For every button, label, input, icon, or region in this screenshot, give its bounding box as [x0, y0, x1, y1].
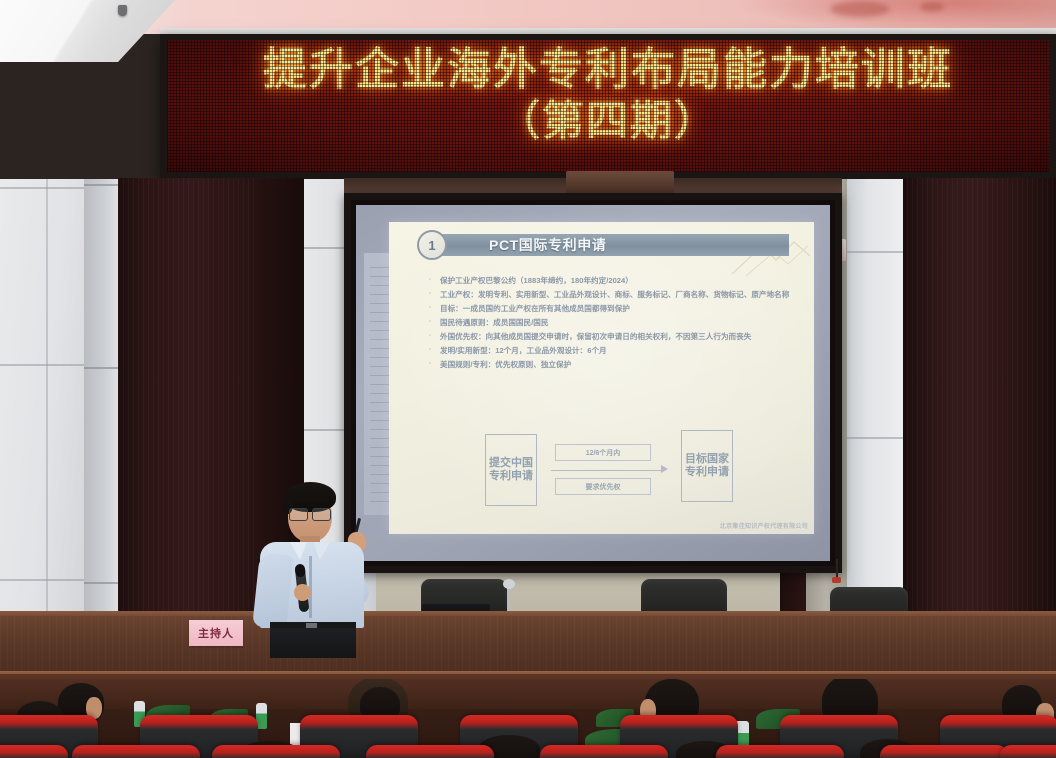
slide-footer-watermark: 北京集佳知识产权代理有限公司	[720, 521, 808, 530]
slide-number-badge: 1	[417, 230, 447, 260]
audience-seat	[212, 745, 340, 758]
audience-area: 黄俊文	[0, 679, 1056, 758]
presentation-slide: PCT国际专利申请 1 ▫ 保护工业产权巴黎公约（1883年缔约，180年约定/…	[389, 222, 814, 534]
projection-screen: PCT国际专利申请 1 ▫ 保护工业产权巴黎公约（1883年缔约，180年约定/…	[344, 193, 842, 573]
audience-seat	[716, 745, 844, 758]
slide-bullet: ▫ 国民待遇原则：成员国国民/国民	[429, 316, 799, 329]
slide-flow-diagram: 提交中国专利申请 12/6个月内 要求优先权 目标国家专利申请	[485, 434, 733, 512]
host-name-card: 主持人	[189, 620, 243, 646]
desk-microphone-icon	[503, 579, 515, 589]
ceiling-stain	[830, 1, 890, 17]
audience-seat	[540, 745, 668, 758]
right-wood-column	[902, 178, 1056, 648]
bullet-text: 发明/实用新型：12个月，工业品外观设计：6个月	[440, 344, 799, 357]
slide-bullet: ▫ 外国优先权：向其他成员国提交申请时，保留初次申请日的相关权利，不因第三人行为…	[429, 330, 799, 343]
bullet-text: 美国规则/专利：优先权原则、独立保护	[440, 358, 799, 371]
slide-bullet: ▫ 工业产权：发明专利、实用新型、工业品外观设计、商标、服务标记、厂商名称、货物…	[429, 288, 799, 301]
left-wall-panel	[0, 179, 84, 679]
flow-arrow-icon	[661, 465, 668, 473]
slide-bullet: ▫ 美国规则/专利：优先权原则、独立保护	[429, 358, 799, 371]
led-banner: 提升企业海外专利布局能力培训班 （第四期）	[160, 34, 1056, 179]
led-banner-line2: （第四期）	[167, 98, 1049, 143]
slide-bullet: ▫ 目标：一成员国的工业产权在所有其他成员国都得到保护	[429, 302, 799, 315]
slide-title-row: PCT国际专利申请 1	[445, 234, 797, 256]
audience-back-wall	[0, 679, 1056, 709]
led-banner-line1: 提升企业海外专利布局能力培训班	[167, 46, 1049, 94]
bullet-text: 国民待遇原则：成员国国民/国民	[440, 316, 799, 329]
audience-seat	[366, 745, 494, 758]
screen-cord-tip-right	[832, 577, 841, 583]
slide-bullet: ▫ 保护工业产权巴黎公约（1883年缔约，180年约定/2024）	[429, 274, 799, 287]
bullet-text: 工业产权：发明专利、实用新型、工业品外观设计、商标、服务标记、厂商名称、货物标记…	[440, 288, 799, 301]
audience-seat	[0, 745, 68, 758]
speaker-trousers	[270, 628, 356, 658]
flow-mid-box-top: 12/6个月内	[555, 444, 651, 461]
glasses-icon	[288, 508, 332, 519]
projection-surface: PCT国际专利申请 1 ▫ 保护工业产权巴黎公约（1883年缔约，180年约定/…	[356, 205, 830, 561]
audience-seat	[72, 745, 200, 758]
left-wall-panel-secondary	[84, 179, 118, 679]
right-light-panel	[845, 179, 903, 649]
speaker-left-hand	[294, 584, 311, 601]
bullet-marker-icon: ▫	[429, 358, 440, 371]
ceiling-stain-small	[920, 2, 944, 12]
flow-mid-box-bottom: 要求优先权	[555, 478, 651, 495]
audience-seat	[880, 745, 1008, 758]
bullet-marker-icon: ▫	[429, 344, 440, 357]
screen-roller-box	[566, 171, 674, 193]
led-banner-text: 提升企业海外专利布局能力培训班 （第四期）	[167, 46, 1049, 143]
bullet-marker-icon: ▫	[429, 274, 440, 287]
bullet-text: 保护工业产权巴黎公约（1883年缔约，180年约定/2024）	[440, 274, 799, 287]
flow-end-box: 目标国家专利申请	[681, 430, 733, 502]
speaker-presenter	[244, 476, 384, 658]
security-camera-icon	[118, 5, 127, 16]
bullet-marker-icon: ▫	[429, 302, 440, 315]
audience-seat	[1000, 745, 1056, 758]
bullet-text: 目标：一成员国的工业产权在所有其他成员国都得到保护	[440, 302, 799, 315]
led-screen-surface: 提升企业海外专利布局能力培训班 （第四期）	[167, 40, 1049, 172]
slide-title: PCT国际专利申请	[489, 235, 606, 255]
flow-start-box: 提交中国专利申请	[485, 434, 537, 506]
conference-photo-scene: 提升企业海外专利布局能力培训班 （第四期）	[0, 0, 1056, 758]
bullet-marker-icon: ▫	[429, 288, 440, 301]
slide-bullet: ▫ 发明/实用新型：12个月，工业品外观设计：6个月	[429, 344, 799, 357]
slide-bullet-list: ▫ 保护工业产权巴黎公约（1883年缔约，180年约定/2024） ▫ 工业产权…	[429, 274, 799, 372]
room-body: PCT国际专利申请 1 ▫ 保护工业产权巴黎公约（1883年缔约，180年约定/…	[0, 179, 1056, 679]
bullet-marker-icon: ▫	[429, 330, 440, 343]
bullet-marker-icon: ▫	[429, 316, 440, 329]
bullet-text: 外国优先权：向其他成员国提交申请时，保留初次申请日的相关权利，不因第三人行为而丧…	[440, 330, 799, 343]
flow-connector-line	[551, 470, 661, 471]
slide-title-bar: PCT国际专利申请	[437, 234, 789, 256]
